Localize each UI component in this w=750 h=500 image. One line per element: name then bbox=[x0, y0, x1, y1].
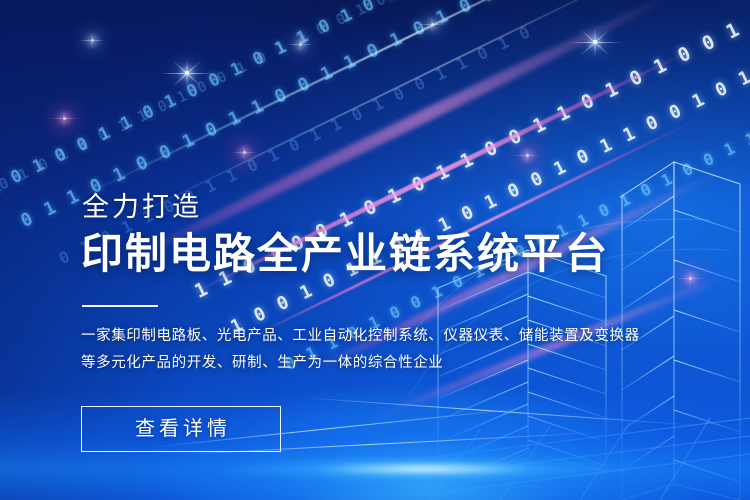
hero-banner: 1 0 0 1 0 1 1 0 1 1 0 1 0 0 1 0 1 1 0 0 … bbox=[0, 0, 750, 500]
hero-description-line-2: 等多元化产品的开发、研制、生产为一体的综合性企业 bbox=[81, 350, 641, 377]
view-details-button[interactable]: 查看详情 bbox=[81, 406, 281, 452]
bottom-light-burst bbox=[210, 456, 640, 482]
hero-description-line-1: 一家集印制电路板、光电产品、工业自动化控制系统、仪器仪表、储能装置及变换器 bbox=[81, 323, 641, 350]
hero-eyebrow: 全力打造 bbox=[82, 192, 641, 223]
hero-content: 全力打造 印制电路全产业链系统平台 一家集印制电路板、光电产品、工业自动化控制系… bbox=[81, 192, 641, 452]
hero-headline: 印制电路全产业链系统平台 bbox=[81, 229, 641, 279]
hero-divider bbox=[82, 305, 158, 307]
